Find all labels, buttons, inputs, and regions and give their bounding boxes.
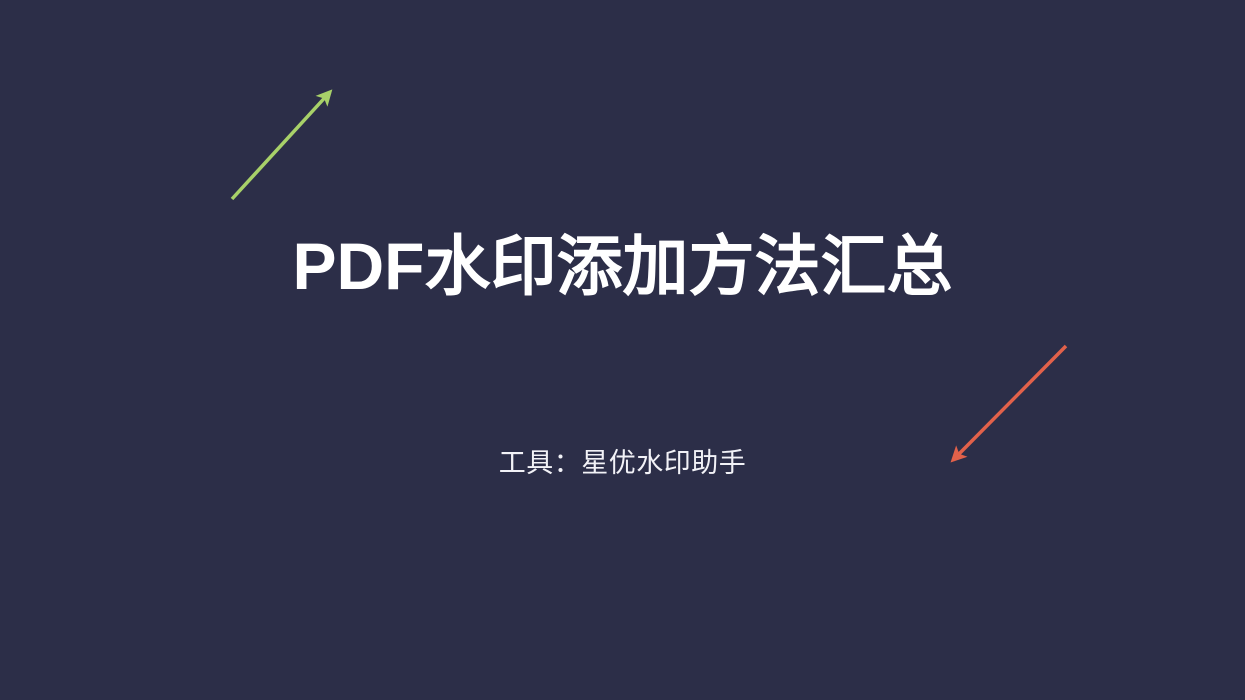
presentation-slide: PDF水印添加方法汇总 工具：星优水印助手 [0, 0, 1245, 700]
page-title: PDF水印添加方法汇总 [293, 226, 953, 306]
decorative-arrows-layer [0, 0, 1245, 700]
page-subtitle: 工具：星优水印助手 [499, 444, 747, 482]
subtitle-block: 工具：星优水印助手 [0, 444, 1245, 482]
green-arrow-up-right-icon [232, 92, 330, 199]
red-arrow-down-left-icon [953, 346, 1066, 460]
title-block: PDF水印添加方法汇总 [0, 226, 1245, 306]
